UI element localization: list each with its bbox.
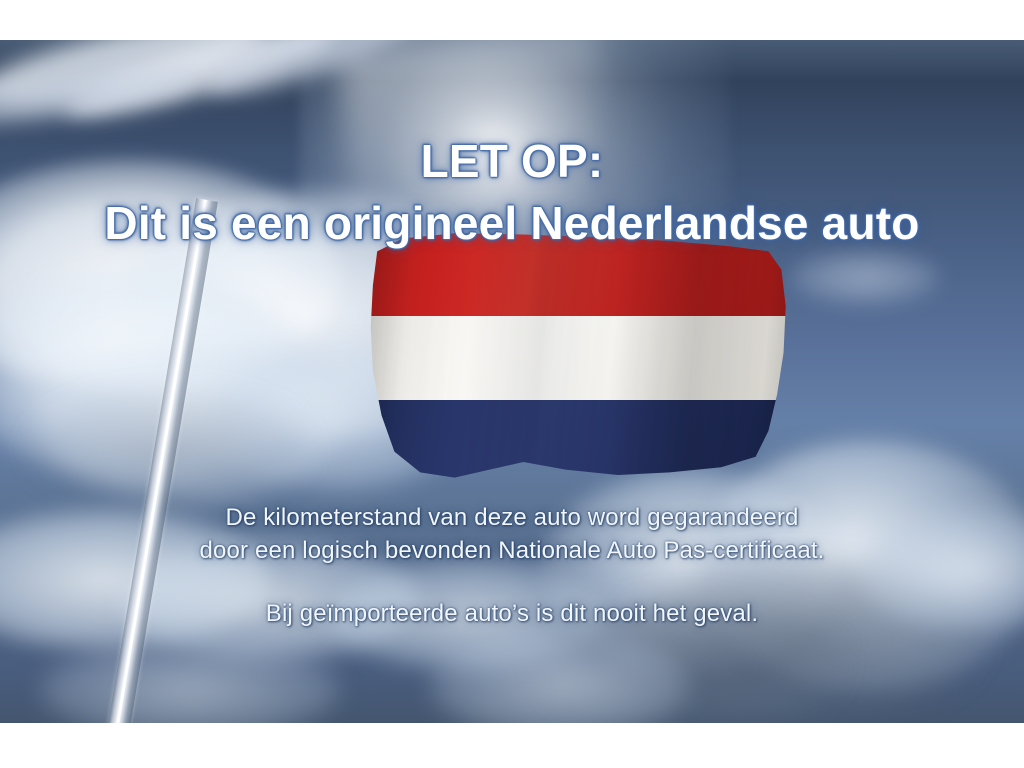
cumulus-puff bbox=[40, 640, 340, 723]
body-line-1: De kilometerstand van deze auto word geg… bbox=[0, 502, 1024, 535]
body-line-2: door een logisch bevonden Nationale Auto… bbox=[0, 535, 1024, 568]
cumulus-puff bbox=[430, 630, 690, 723]
body-line-3: Bij geïmporteerde auto’s is dit nooit he… bbox=[0, 598, 1024, 631]
headline: LET OP: Dit is een origineel Nederlandse… bbox=[0, 138, 1024, 248]
body-spacer bbox=[0, 568, 1024, 598]
cumulus-puff bbox=[790, 250, 940, 305]
body-copy: De kilometerstand van deze auto word geg… bbox=[0, 502, 1024, 631]
sky-photo: LET OP: Dit is een origineel Nederlandse… bbox=[0, 40, 1024, 723]
flag-wave-shading bbox=[360, 228, 790, 488]
flag-cloth bbox=[360, 228, 790, 488]
headline-line-2: Dit is een origineel Nederlandse auto bbox=[0, 200, 1024, 248]
headline-line-1: LET OP: bbox=[0, 138, 1024, 186]
banner-root: LET OP: Dit is een origineel Nederlandse… bbox=[0, 0, 1024, 768]
netherlands-flag bbox=[360, 228, 790, 488]
